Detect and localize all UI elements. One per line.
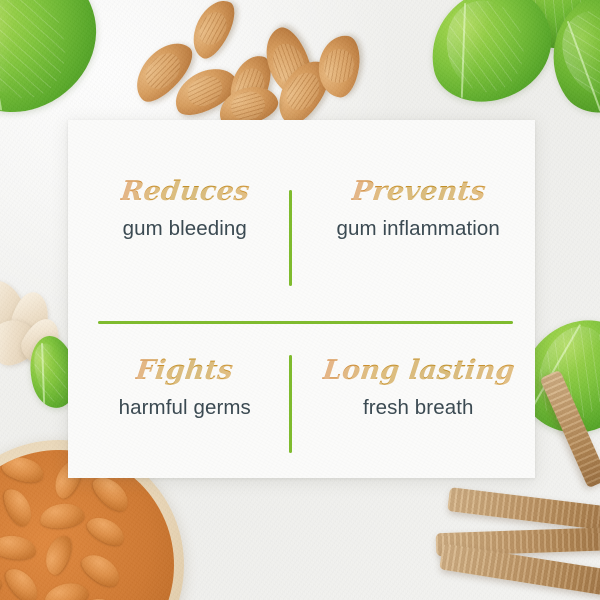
leaf-midrib (0, 0, 2, 110)
promo-graphic: Reduces gum bleeding Prevents gum inflam… (0, 0, 600, 600)
divider-vertical-bottom (289, 355, 292, 453)
almond-cluster-top (160, 0, 380, 134)
benefit-detail: fresh breath (363, 396, 474, 421)
licorice-stick (447, 487, 600, 533)
benefit-detail: gum bleeding (123, 217, 247, 242)
benefit-detail: gum inflammation (337, 217, 500, 242)
benefit-headline: Long lasting (321, 357, 516, 385)
benefit-item-fights: Fights harmful germs (68, 299, 302, 478)
spinach-cluster-top-right (430, 0, 600, 123)
divider-vertical-top (289, 190, 292, 286)
benefit-headline: Prevents (350, 178, 487, 206)
almond (185, 0, 242, 64)
benefit-detail: harmful germs (119, 396, 251, 421)
benefits-grid: Reduces gum bleeding Prevents gum inflam… (68, 120, 535, 478)
benefit-item-reduces: Reduces gum bleeding (68, 120, 302, 299)
divider-horizontal (98, 321, 513, 324)
spinach-leaf-top-left-icon (0, 0, 120, 132)
benefit-item-long-lasting: Long lasting fresh breath (302, 299, 536, 478)
benefit-headline: Reduces (119, 178, 251, 206)
benefit-headline: Fights (135, 357, 235, 385)
spinach-leaf-icon (420, 0, 562, 111)
benefits-card: Reduces gum bleeding Prevents gum inflam… (68, 120, 535, 478)
benefit-item-prevents: Prevents gum inflammation (302, 120, 536, 299)
